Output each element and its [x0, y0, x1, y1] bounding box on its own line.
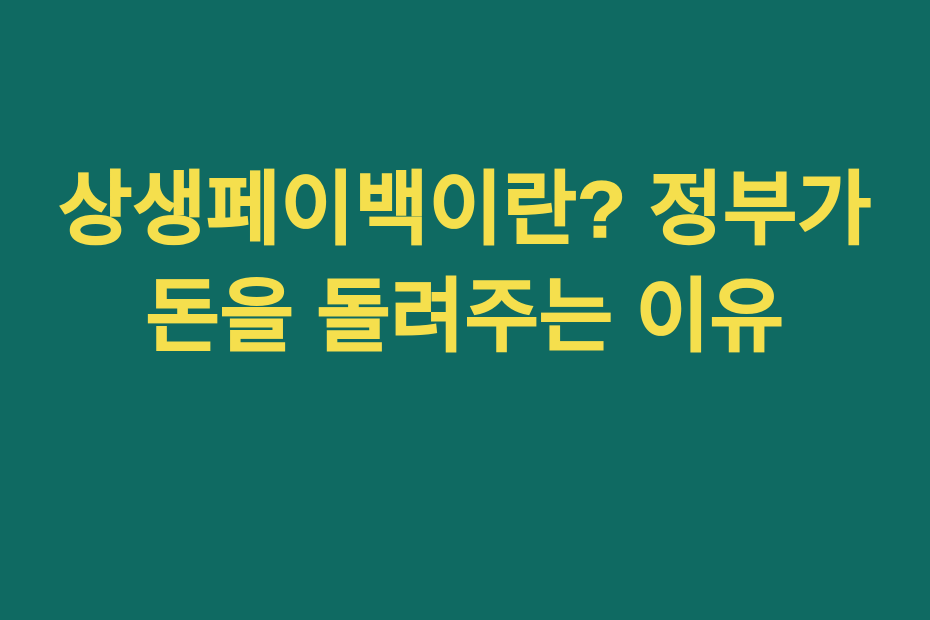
- headline-line-2: 돈을 돌려주는 이유: [24, 263, 906, 370]
- headline-block: 상생페이백이란? 정부가 돈을 돌려주는 이유: [0, 156, 930, 370]
- banner-canvas: 상생페이백이란? 정부가 돈을 돌려주는 이유: [0, 0, 930, 620]
- headline-line-1: 상생페이백이란? 정부가: [24, 156, 906, 263]
